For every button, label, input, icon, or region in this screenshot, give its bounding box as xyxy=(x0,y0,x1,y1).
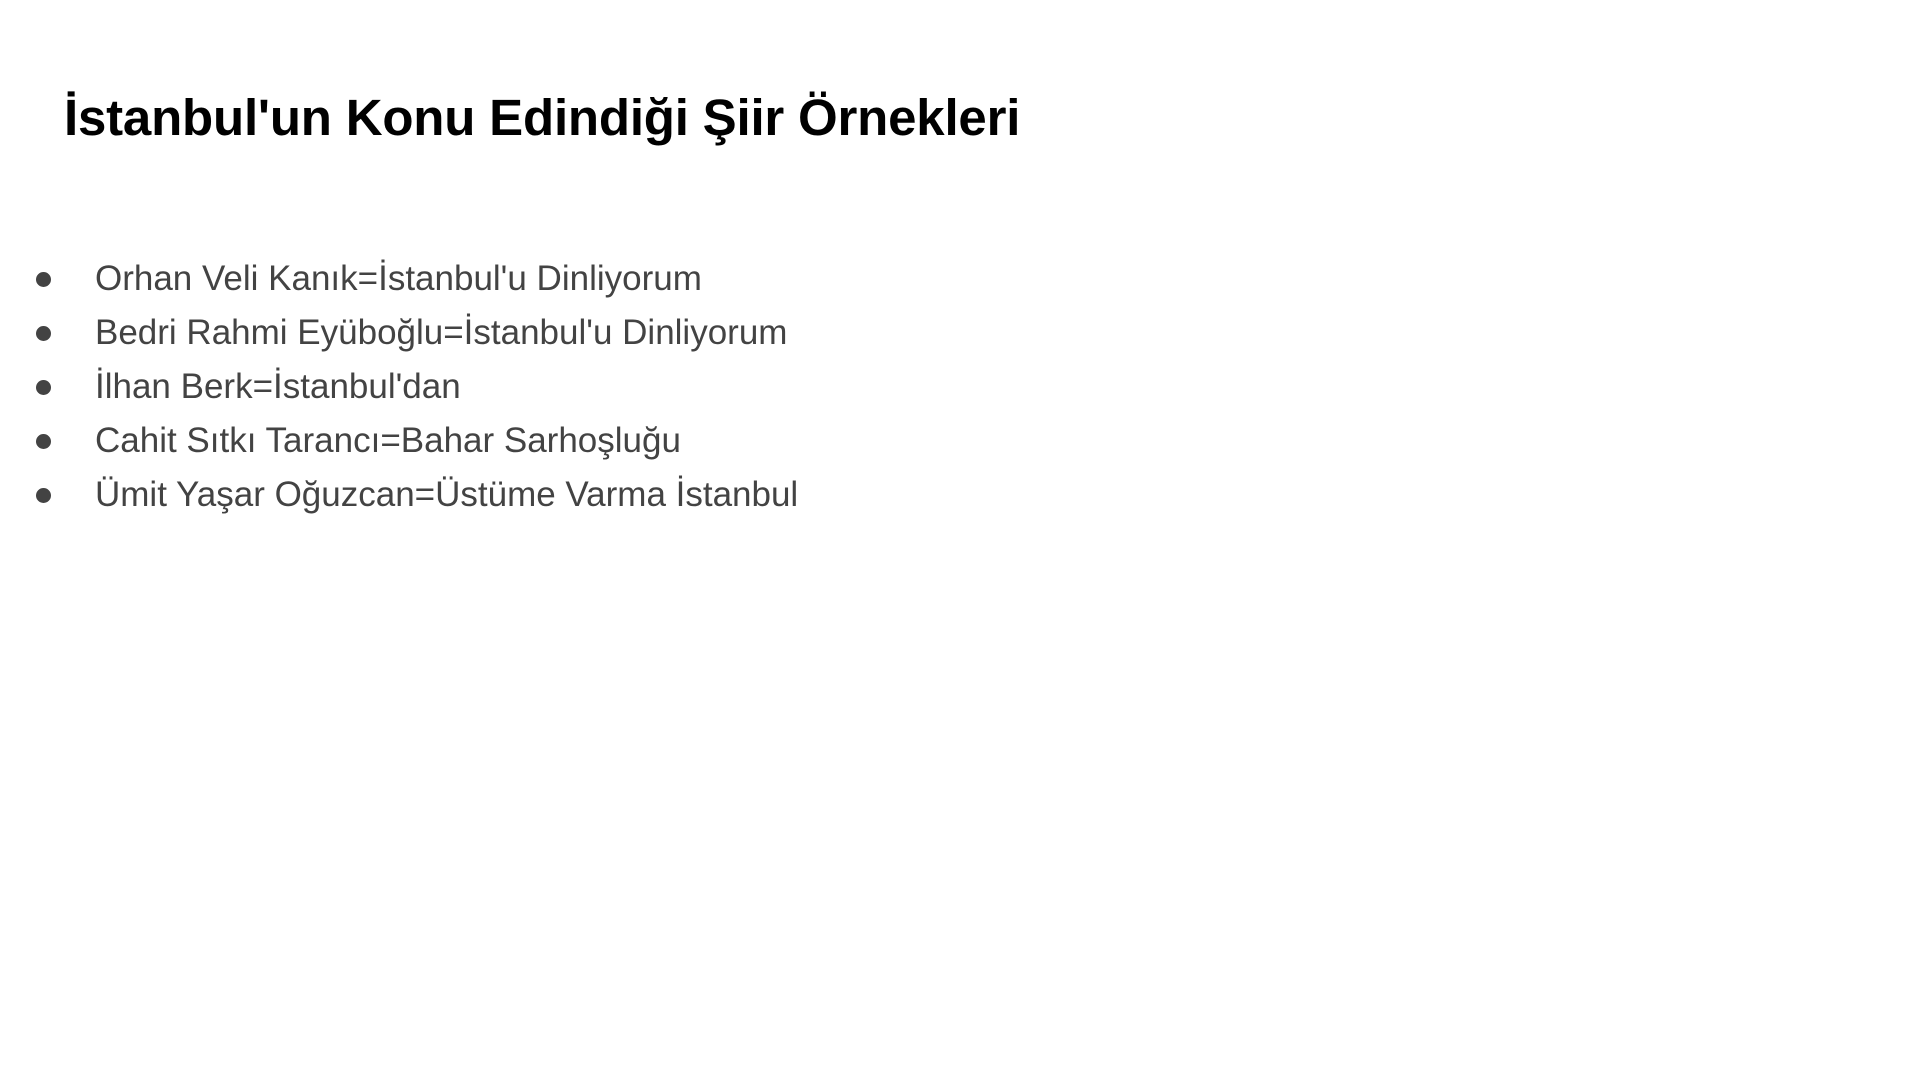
bullet-point-icon xyxy=(36,488,51,503)
bullet-point-icon xyxy=(36,380,51,395)
bullet-point-icon xyxy=(36,434,51,449)
page-title: İstanbul'un Konu Edindiği Şiir Örnekleri xyxy=(64,88,1784,148)
slide-canvas: İstanbul'un Konu Edindiği Şiir Örnekleri… xyxy=(0,0,1920,1080)
list-item-label: Bedri Rahmi Eyüboğlu=İstanbul'u Dinliyor… xyxy=(95,306,787,360)
list-item: Bedri Rahmi Eyüboğlu=İstanbul'u Dinliyor… xyxy=(0,306,1600,360)
list-item: İlhan Berk=İstanbul'dan xyxy=(0,360,1600,414)
list-item: Cahit Sıtkı Tarancı=Bahar Sarhoşluğu xyxy=(0,414,1600,468)
list-item-label: Cahit Sıtkı Tarancı=Bahar Sarhoşluğu xyxy=(95,414,681,468)
list-item-label: Ümit Yaşar Oğuzcan=Üstüme Varma İstanbul xyxy=(95,468,798,522)
list-item: Ümit Yaşar Oğuzcan=Üstüme Varma İstanbul xyxy=(0,468,1600,522)
list-item-label: Orhan Veli Kanık=İstanbul'u Dinliyorum xyxy=(95,252,702,306)
list-item-label: İlhan Berk=İstanbul'dan xyxy=(95,360,461,414)
bullet-point-icon xyxy=(36,272,51,287)
bullet-point-icon xyxy=(36,326,51,341)
poem-examples-list: Orhan Veli Kanık=İstanbul'u Dinliyorum B… xyxy=(0,252,1600,522)
list-item: Orhan Veli Kanık=İstanbul'u Dinliyorum xyxy=(0,252,1600,306)
